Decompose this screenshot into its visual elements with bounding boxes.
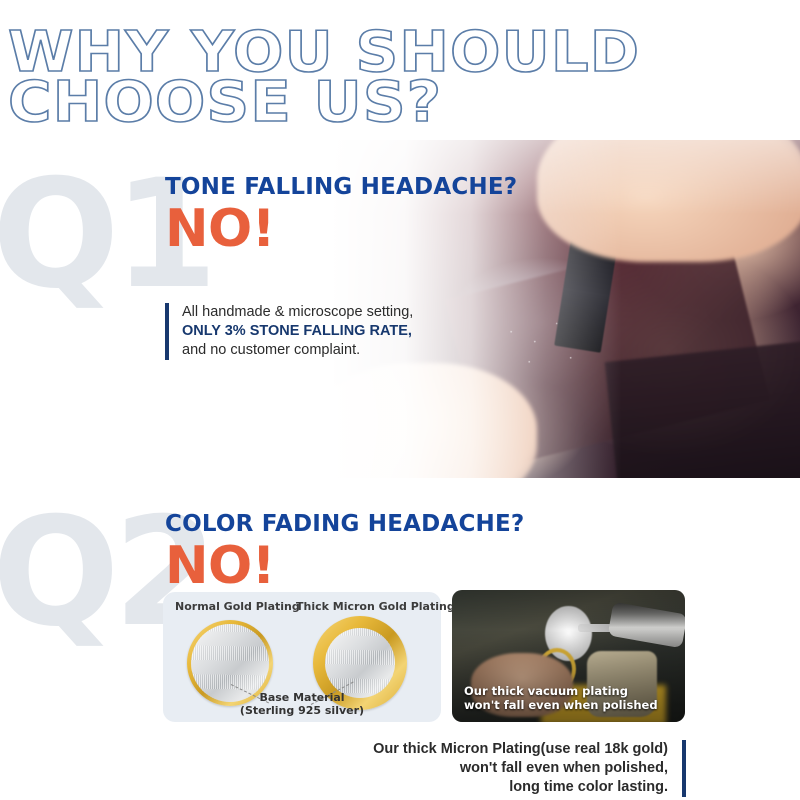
diagram-label-normal: Normal Gold Plating	[175, 600, 300, 613]
q2-photo-caption-line-1: Our thick vacuum plating	[464, 684, 658, 698]
coin-thick-base-material	[325, 628, 395, 698]
q2-photo-caption-line-2: won't fall even when polished	[464, 698, 658, 712]
q2-bottom-note: Our thick Micron Plating(use real 18k go…	[330, 740, 686, 797]
q2-note-line-1: Our thick Micron Plating(use real 18k go…	[330, 740, 668, 759]
base-material-line-2: (Sterling 925 silver)	[163, 704, 441, 717]
plating-comparison-diagram: Normal Gold Plating Thick Micron Gold Pl…	[163, 592, 441, 722]
promo-banner: WHY YOU SHOULD CHOOSE US? Q1 TONE FALLIN…	[0, 0, 800, 800]
q2-note-line-2: won't fall even when polished,	[330, 759, 668, 778]
q2-photo: Our thick vacuum plating won't fall even…	[452, 590, 685, 722]
base-material-line-1: Base Material	[163, 691, 441, 704]
diagram-base-material-label: Base Material (Sterling 925 silver)	[163, 691, 441, 717]
q2-answer: NO!	[165, 540, 275, 592]
section-q2: Q2 COLOR FADING HEADACHE? NO! Normal Gol…	[0, 0, 800, 800]
q2-note-line-3: long time color lasting.	[330, 778, 668, 797]
q2-photo-caption: Our thick vacuum plating won't fall even…	[464, 684, 658, 712]
diagram-label-thick: Thick Micron Gold Plating	[296, 600, 455, 613]
q2-headline: COLOR FADING HEADACHE?	[165, 511, 524, 537]
